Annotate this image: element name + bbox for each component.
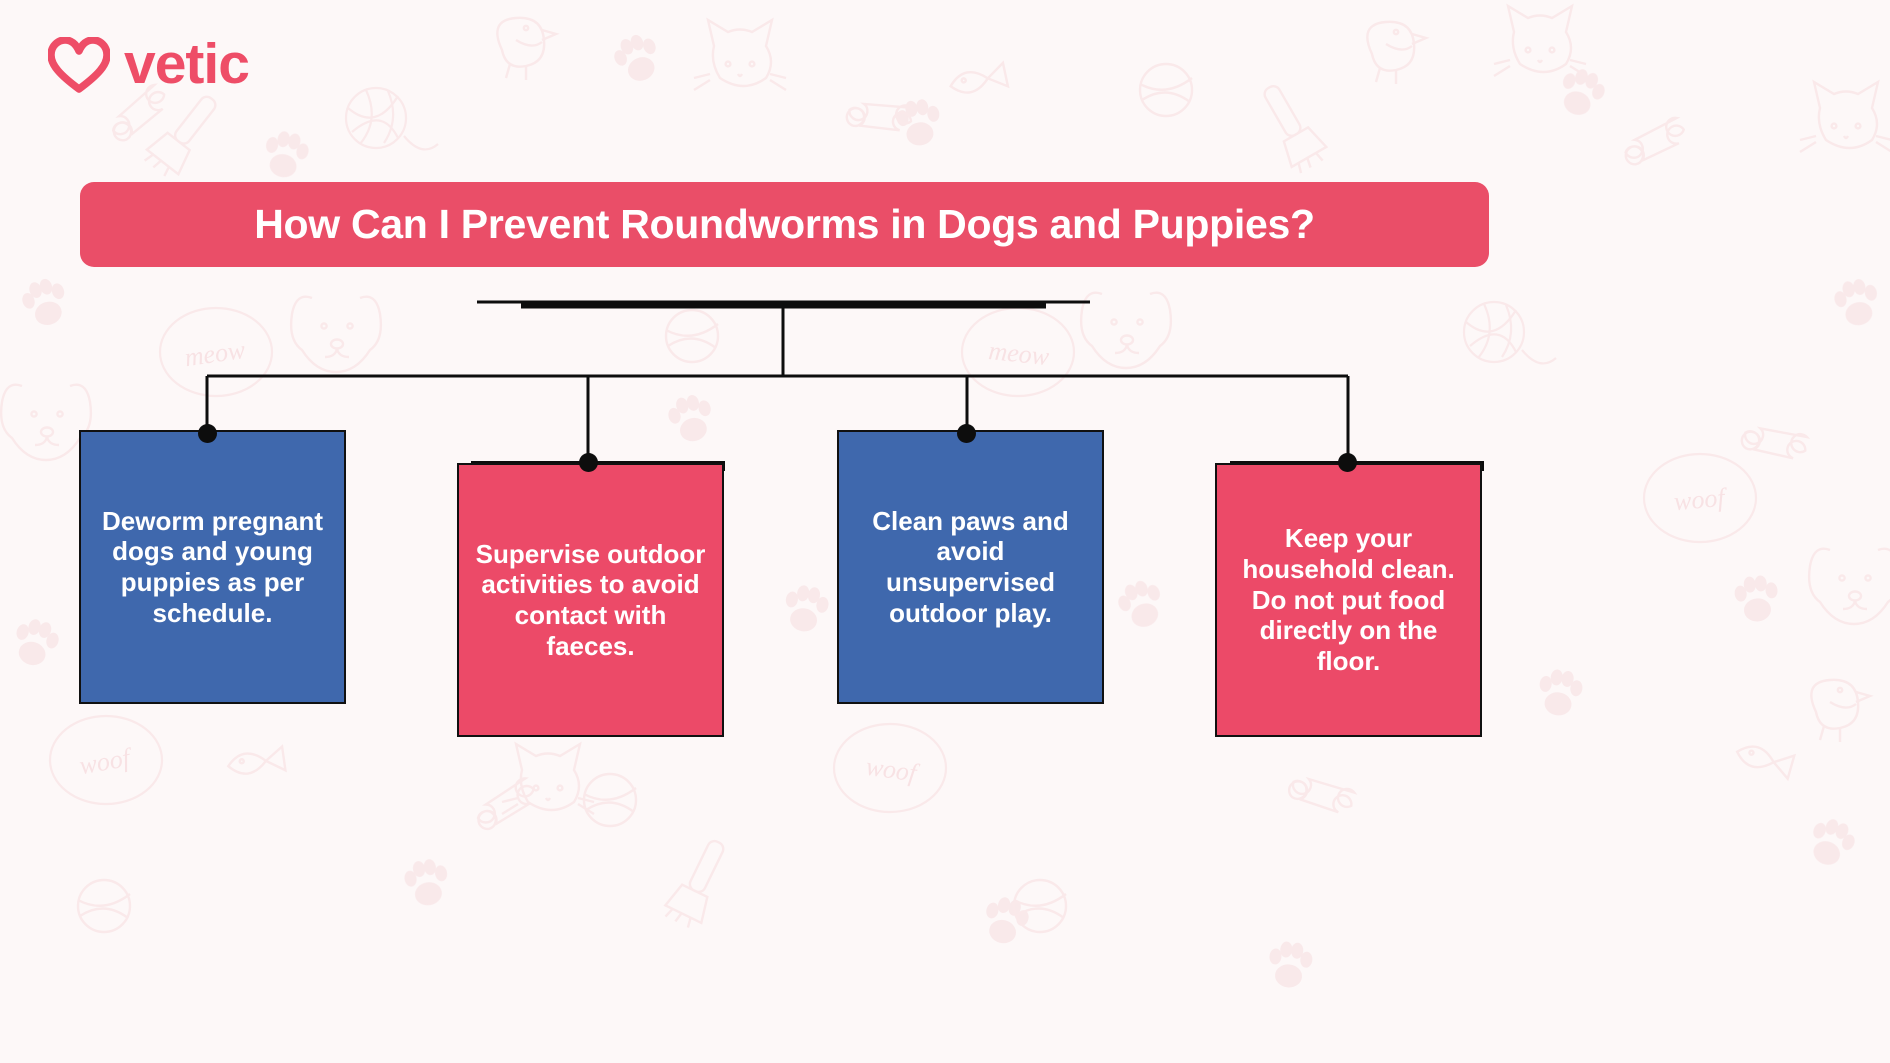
heart-icon	[48, 37, 110, 93]
svg-text:woof: woof	[1673, 483, 1730, 517]
diagram-node-2[interactable]: Supervise outdoor activities to avoid co…	[457, 463, 724, 737]
title-banner: How Can I Prevent Roundworms in Dogs and…	[80, 182, 1489, 267]
diagram-node-3[interactable]: Clean paws and avoid unsupervised outdoo…	[837, 430, 1104, 704]
page-title: How Can I Prevent Roundworms in Dogs and…	[254, 201, 1315, 248]
diagram-node-4[interactable]: Keep your household clean. Do not put fo…	[1215, 463, 1482, 737]
svg-text:woof: woof	[864, 752, 922, 788]
brand-logo[interactable]: vetic	[48, 36, 249, 93]
svg-text:woof: woof	[77, 742, 136, 780]
connector-dot-1	[198, 424, 217, 443]
connector-dot-2	[579, 453, 598, 472]
infographic-canvas: meow meow woof woof woof vetic How Can I…	[0, 0, 1890, 1063]
node-3-text: Clean paws and avoid unsupervised outdoo…	[853, 506, 1088, 629]
svg-text:meow: meow	[987, 336, 1051, 371]
connector-dot-3	[957, 424, 976, 443]
node-2-text: Supervise outdoor activities to avoid co…	[473, 539, 708, 662]
brand-name: vetic	[124, 36, 249, 93]
node-1-text: Deworm pregnant dogs and young puppies a…	[95, 506, 330, 629]
diagram-node-1[interactable]: Deworm pregnant dogs and young puppies a…	[79, 430, 346, 704]
node-4-text: Keep your household clean. Do not put fo…	[1231, 523, 1466, 676]
connector-dot-4	[1338, 453, 1357, 472]
svg-text:meow: meow	[183, 335, 248, 372]
